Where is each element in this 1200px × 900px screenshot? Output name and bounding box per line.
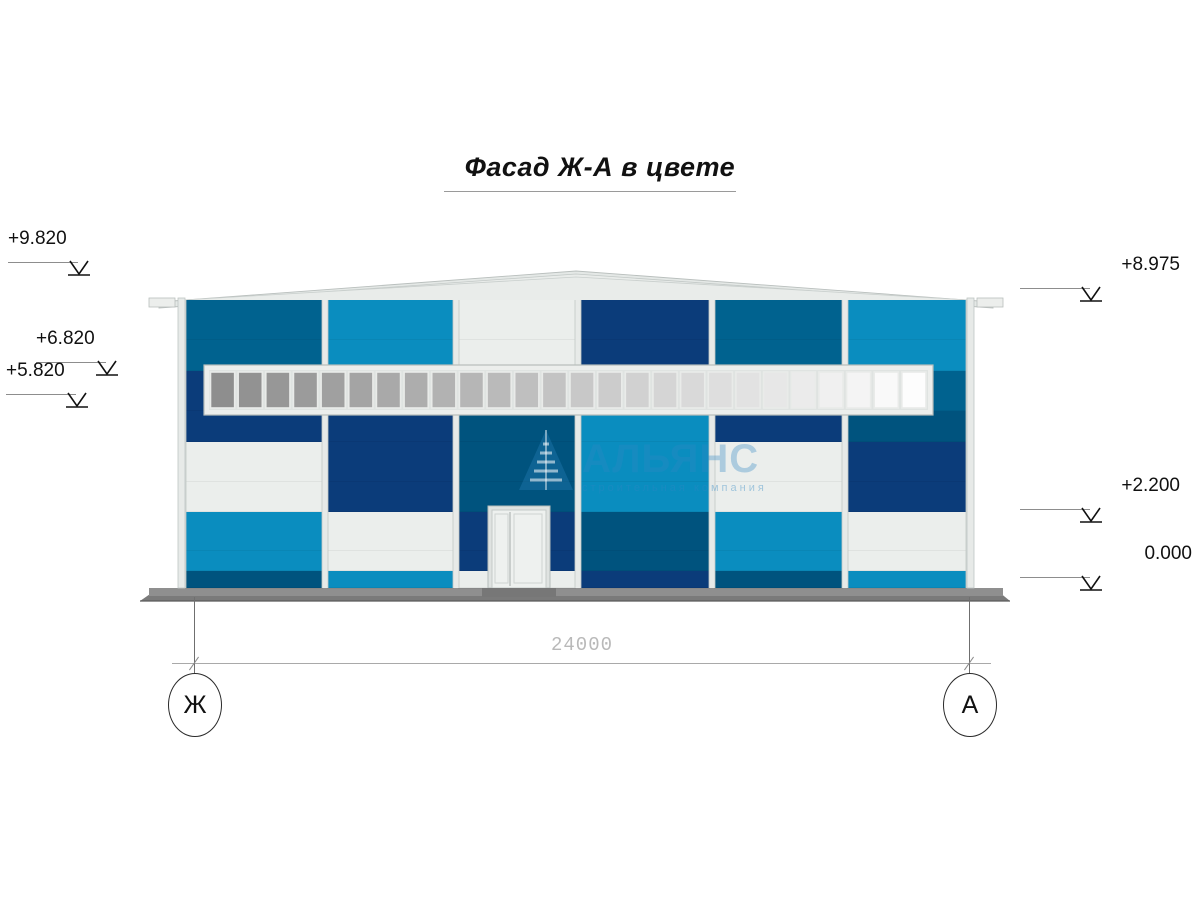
axis-a-label: А — [962, 691, 979, 720]
facade-panel — [185, 512, 323, 551]
facade-panel — [847, 411, 967, 442]
facade-panel — [714, 571, 843, 588]
window-pane — [764, 372, 788, 408]
facade-panel — [580, 442, 710, 482]
window-pane — [819, 372, 843, 408]
window-pane — [681, 372, 705, 408]
window-pane — [625, 372, 649, 408]
facade-panel — [714, 482, 843, 512]
facade-panel — [847, 442, 967, 482]
facade-panel — [580, 551, 710, 571]
facade-panel — [327, 512, 454, 551]
facade-panel — [185, 411, 323, 442]
facade-panel — [847, 300, 967, 340]
dimension-value: 24000 — [0, 634, 1182, 656]
facade-panel — [580, 512, 710, 551]
facade-panel — [185, 482, 323, 512]
window-pane — [432, 372, 456, 408]
facade-panel — [327, 551, 454, 571]
facade-panel — [185, 442, 323, 482]
facade-panel — [580, 571, 710, 588]
window-pane — [902, 372, 926, 408]
facade-panel — [327, 571, 454, 588]
window-pane — [847, 372, 871, 408]
facade-panel — [458, 411, 576, 442]
window-pane — [459, 372, 483, 408]
window-pane — [598, 372, 622, 408]
facade-panel — [458, 442, 576, 482]
window-pane — [791, 372, 815, 408]
window-pane — [376, 372, 400, 408]
facade-panel — [327, 442, 454, 482]
window-pane — [708, 372, 732, 408]
axis-a: А — [943, 673, 997, 737]
facade-panel — [327, 411, 454, 442]
window-pane — [293, 372, 317, 408]
facade-panel — [580, 411, 710, 442]
window-pane — [238, 372, 262, 408]
axis-zh-label: Ж — [183, 691, 206, 720]
facade-panel — [714, 300, 843, 340]
window-pane — [266, 372, 290, 408]
window-pane — [542, 372, 566, 408]
window-pane — [487, 372, 511, 408]
window-pane — [515, 372, 539, 408]
facade-panel — [185, 551, 323, 571]
facade-panel — [580, 482, 710, 512]
facade-panel — [185, 300, 323, 340]
drawing-canvas: Фасад Ж-А в цвете +9.820+6.820+5.820 +8.… — [0, 0, 1200, 900]
facade-panel — [580, 300, 710, 340]
facade-panel — [714, 512, 843, 551]
window-pane — [653, 372, 677, 408]
axis-zh: Ж — [168, 673, 222, 737]
building-elevation — [0, 0, 1200, 900]
facade-panel — [847, 571, 967, 588]
window-pane — [736, 372, 760, 408]
window-pane — [404, 372, 428, 408]
window-pane — [321, 372, 345, 408]
facade-panel — [714, 411, 843, 442]
entrance-door — [492, 510, 546, 588]
window-pane — [874, 372, 898, 408]
facade-panel — [714, 442, 843, 482]
facade-panel — [327, 482, 454, 512]
facade-panel — [458, 300, 576, 340]
facade-panel — [327, 300, 454, 340]
facade-panel — [847, 551, 967, 571]
window-pane — [211, 372, 235, 408]
window-pane — [349, 372, 373, 408]
window-pane — [570, 372, 594, 408]
facade-panel — [847, 512, 967, 551]
dimension-line — [172, 663, 991, 664]
facade-panel — [185, 571, 323, 588]
facade-panel — [847, 482, 967, 512]
facade-panel — [714, 551, 843, 571]
